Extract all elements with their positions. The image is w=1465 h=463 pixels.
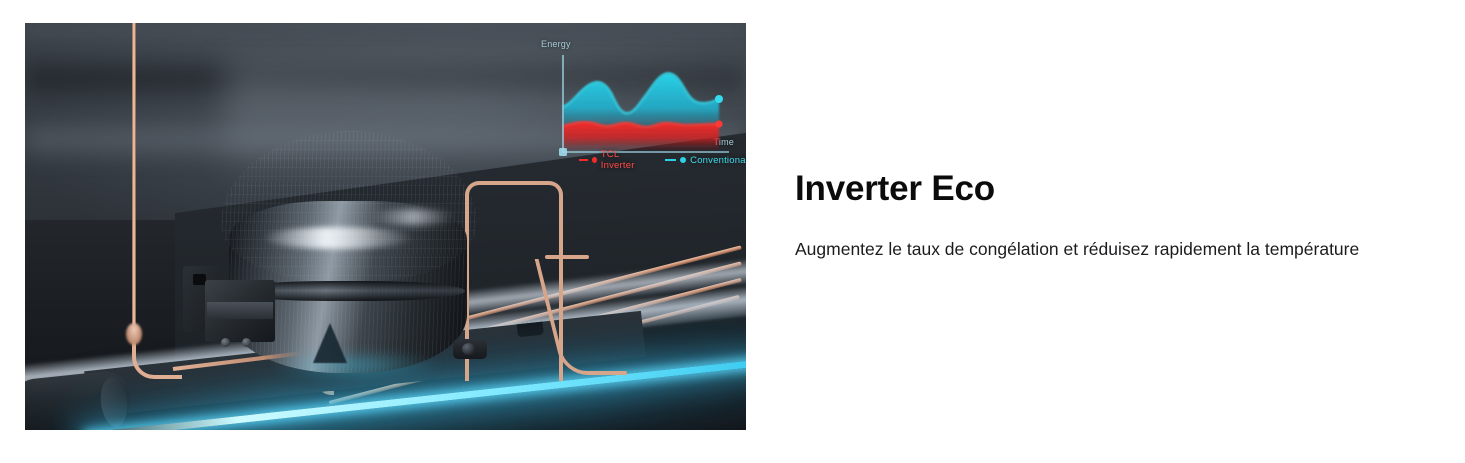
legend-label: Conventional (690, 155, 746, 166)
compressor-highlight (263, 227, 413, 249)
terminal-box-strip (207, 302, 273, 319)
feature-description: Augmentez le taux de congélation et rédu… (795, 235, 1420, 263)
copper-pipe-cap (126, 323, 142, 345)
energy-chart: Energy Time (533, 33, 746, 173)
compressor-dome-rings (221, 131, 477, 281)
series-conventional-endpoint (715, 95, 723, 103)
legend-dash-icon (665, 159, 676, 161)
feature-copy: Inverter Eco Augmentez le taux de congél… (795, 168, 1420, 264)
product-image: Energy Time (25, 23, 746, 430)
mount-bracket (453, 339, 487, 359)
terminal-box-bolts (221, 334, 263, 352)
series-tcl-inverter-endpoint (715, 120, 722, 127)
legend-dash-icon (579, 159, 588, 161)
page-title: Inverter Eco (795, 168, 1420, 209)
compressor-dome (221, 131, 477, 281)
legend-label: TCL Inverter (601, 149, 645, 171)
legend-item-tcl-inverter: TCL Inverter (579, 149, 645, 171)
legend-dot-icon (592, 157, 597, 163)
legend-item-conventional: Conventional (665, 155, 746, 166)
cone-bracket (313, 323, 347, 363)
terminal-box-icon (183, 266, 275, 352)
copper-pipe-vertical (132, 23, 136, 353)
chart-legend: TCL Inverter Conventional (579, 149, 746, 171)
compressor-highlight-secondary (371, 209, 455, 225)
chart-origin-marker (559, 148, 567, 156)
feature-block: Energy Time (0, 0, 1465, 463)
legend-dot-icon (680, 157, 686, 163)
